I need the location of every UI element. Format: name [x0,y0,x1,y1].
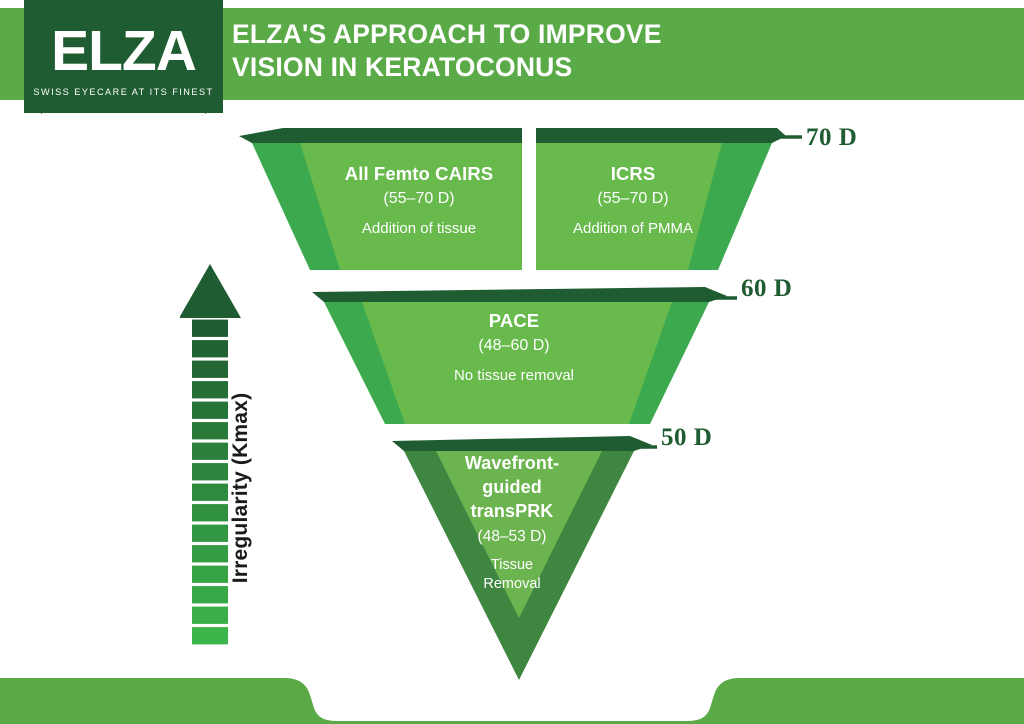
section-pace: PACE (48–60 D) No tissue removal [378,310,650,386]
tier1-top-lip-left [239,128,522,143]
arrow-segment [192,627,228,644]
arrow-segment [192,566,228,583]
arrow-gradient-segments [192,320,228,645]
arrow-segment [192,586,228,603]
arrow-segment [192,361,228,378]
arrow-segment [192,504,228,521]
section-title-line-2: guided [432,476,592,500]
arrow-segment [192,545,228,562]
section-title-line-1: Wavefront- [432,452,592,476]
section-range: (55–70 D) [314,189,524,210]
section-description-line-1: Tissue [432,556,592,575]
section-title: ICRS [533,163,733,186]
level-label-60d: 60 D [741,275,792,303]
axis-label-irregularity: Irregularity (Kmax) [228,373,254,603]
section-range: (48–53 D) [432,527,592,547]
arrow-segment [192,525,228,542]
footer-shape [0,678,1024,724]
arrow-segment [192,607,228,624]
section-range: (48–60 D) [378,336,650,357]
level-label-70d: 70 D [806,124,857,152]
arrow-segment [192,484,228,501]
footer-band [0,663,1024,724]
arrow-head-icon [180,264,241,318]
arrow-segment [192,340,228,357]
section-description: Tissue Removal [432,556,592,593]
section-description: Addition of tissue [314,220,524,239]
arrow-segment [192,381,228,398]
section-title: Wavefront- guided transPRK [432,452,592,524]
arrow-segment [192,463,228,480]
section-description: No tissue removal [378,367,650,386]
section-title: All Femto CAIRS [314,163,524,186]
arrow-segment [192,320,228,337]
level-label-50d: 50 D [661,424,712,452]
section-description: Addition of PMMA [533,220,733,239]
section-title: PACE [378,310,650,333]
arrow-segment [192,402,228,419]
arrow-segment [192,422,228,439]
infographic-canvas: ELZA SWISS EYECARE AT ITS FINEST ELZA'S … [0,0,1024,724]
tier3-top-lip [392,436,652,451]
section-icrs: ICRS (55–70 D) Addition of PMMA [533,163,733,239]
section-range: (55–70 D) [533,189,733,210]
arrow-segment [192,443,228,460]
section-all-femto-cairs: All Femto CAIRS (55–70 D) Addition of ti… [314,163,524,239]
section-wavefront-guided-transprk: Wavefront- guided transPRK (48–53 D) Tis… [432,452,592,593]
section-description-line-2: Removal [432,575,592,594]
section-title-line-3: transPRK [432,500,592,524]
tier2-top-lip [312,287,727,302]
